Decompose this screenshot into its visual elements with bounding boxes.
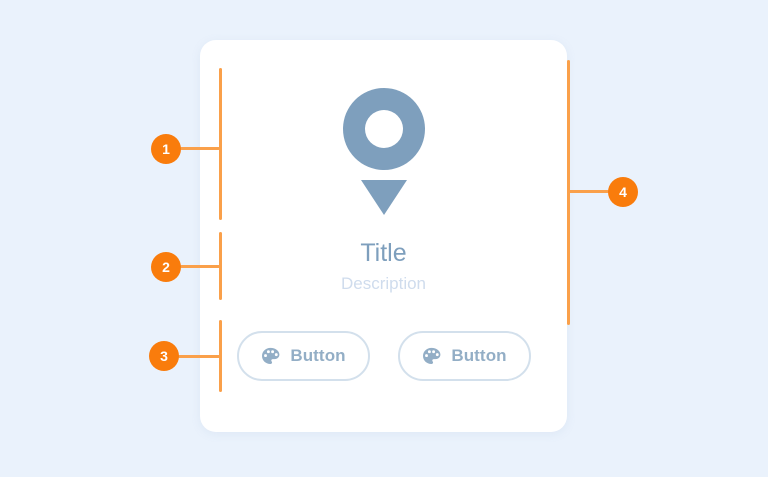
callout-badge-2[interactable]: 2 bbox=[151, 252, 181, 282]
callout-1-connector bbox=[180, 147, 220, 150]
map-pin-ring bbox=[343, 88, 425, 170]
card-button-2[interactable]: Button bbox=[398, 331, 531, 381]
card-button-1[interactable]: Button bbox=[237, 331, 370, 381]
annotated-card-diagram: Title Description Button Button 1 2 3 4 bbox=[0, 0, 768, 477]
card-button-1-label: Button bbox=[290, 346, 345, 366]
palette-icon bbox=[421, 346, 442, 367]
callout-3-connector bbox=[178, 355, 220, 358]
palette-icon bbox=[260, 346, 281, 367]
callout-4-connector bbox=[568, 190, 609, 193]
card-text-block: Title Description bbox=[200, 236, 567, 297]
card-description: Description bbox=[200, 271, 567, 297]
card-title: Title bbox=[200, 236, 567, 270]
card-button-row: Button Button bbox=[200, 331, 567, 381]
map-pin-tip bbox=[361, 180, 407, 215]
card-button-2-label: Button bbox=[451, 346, 506, 366]
callout-1-bracket bbox=[219, 68, 222, 220]
callout-badge-1[interactable]: 1 bbox=[151, 134, 181, 164]
callout-badge-3[interactable]: 3 bbox=[149, 341, 179, 371]
map-pin-icon bbox=[200, 88, 567, 218]
callout-badge-4[interactable]: 4 bbox=[608, 177, 638, 207]
callout-2-connector bbox=[180, 265, 220, 268]
